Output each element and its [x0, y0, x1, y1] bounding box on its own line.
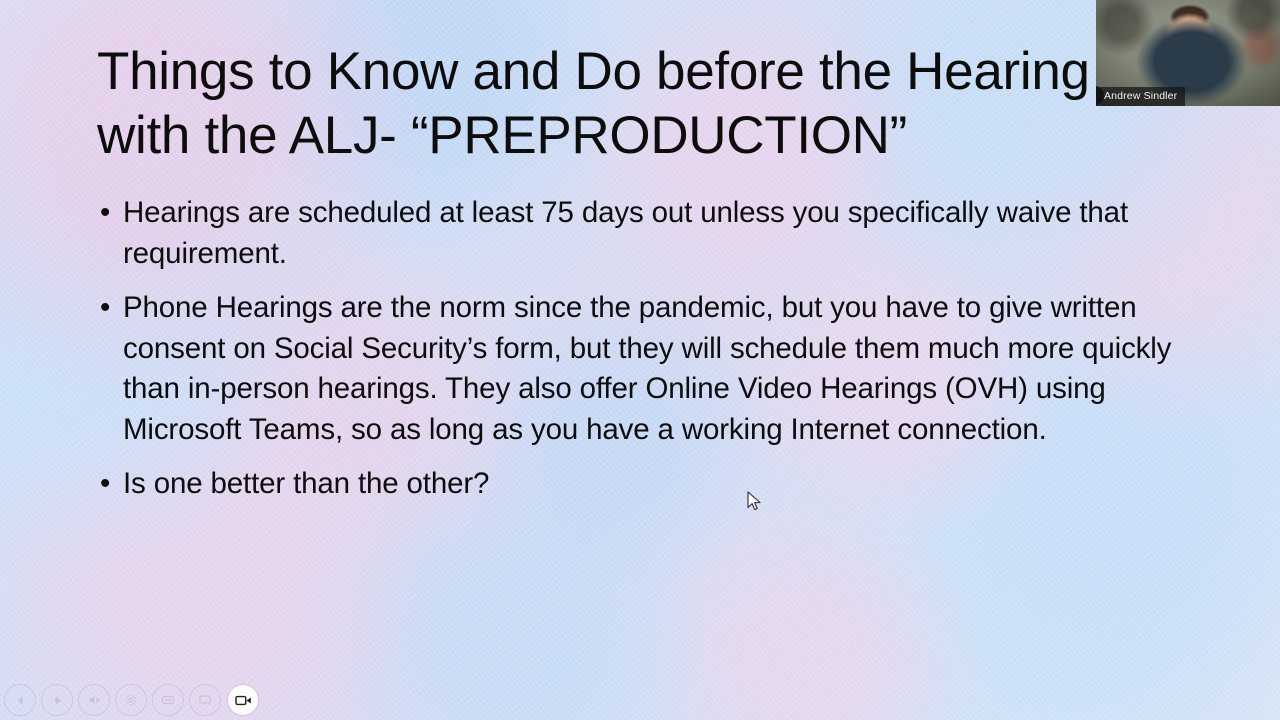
- participant-video-tile[interactable]: Andrew Sindler: [1096, 0, 1280, 106]
- bullet-item: • Is one better than the other?: [97, 464, 1192, 505]
- slide-content: Things to Know and Do before the Hearing…: [0, 0, 1280, 720]
- slide-bullet-list: • Hearings are scheduled at least 75 day…: [97, 193, 1192, 519]
- play-button[interactable]: [41, 684, 73, 716]
- bullet-text: Is one better than the other?: [123, 467, 489, 500]
- bullet-marker: •: [100, 288, 110, 329]
- bullet-item: • Hearings are scheduled at least 75 day…: [97, 193, 1192, 274]
- settings-button[interactable]: [115, 684, 147, 716]
- previous-button[interactable]: [4, 684, 36, 716]
- player-controls-bar[interactable]: [0, 680, 258, 720]
- video-camera-icon: [235, 694, 252, 707]
- bullet-item: • Phone Hearings are the norm since the …: [97, 288, 1192, 450]
- bullet-marker: •: [100, 193, 110, 234]
- presentation-viewer: Things to Know and Do before the Hearing…: [0, 0, 1280, 720]
- slide-title: Things to Know and Do before the Hearing…: [97, 40, 1107, 168]
- bullet-marker: •: [100, 464, 110, 505]
- bullet-text: Phone Hearings are the norm since the pa…: [123, 291, 1171, 446]
- record-button[interactable]: [228, 685, 258, 715]
- presentation-button[interactable]: [189, 684, 221, 716]
- bullet-text: Hearings are scheduled at least 75 days …: [123, 196, 1128, 270]
- closed-captions-button[interactable]: [152, 684, 184, 716]
- participant-name-label: Andrew Sindler: [1096, 87, 1185, 106]
- mute-button[interactable]: [78, 684, 110, 716]
